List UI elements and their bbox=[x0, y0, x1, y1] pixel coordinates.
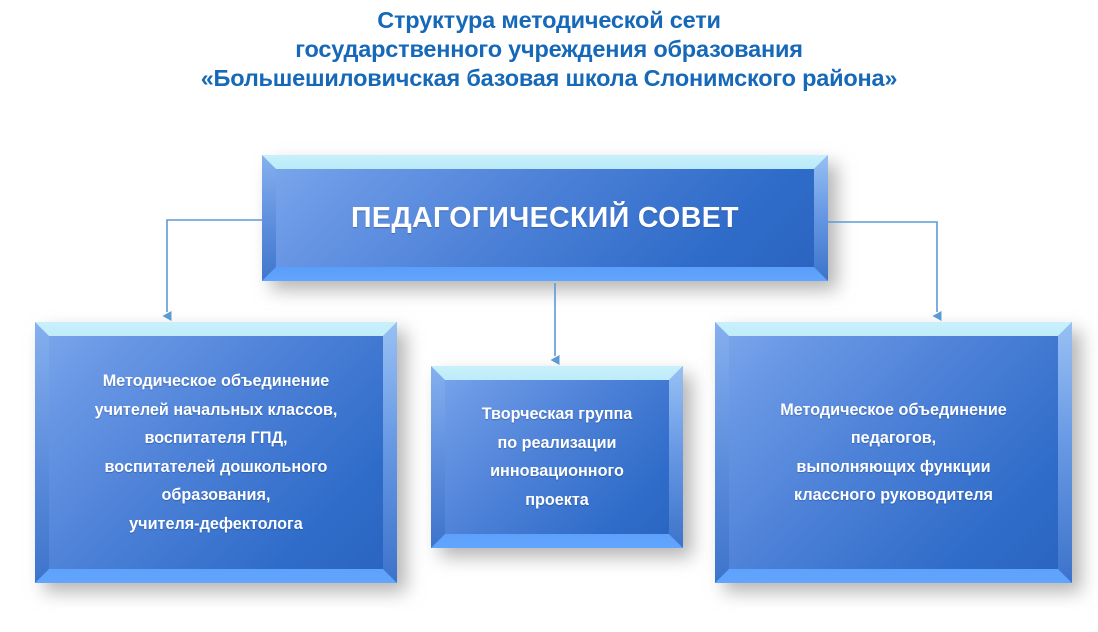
connector-to-primary bbox=[167, 220, 262, 312]
connector-to-homeroom bbox=[828, 222, 937, 312]
connector-lines bbox=[0, 0, 1098, 632]
diagram-canvas: Структура методической сети государствен… bbox=[0, 0, 1098, 632]
